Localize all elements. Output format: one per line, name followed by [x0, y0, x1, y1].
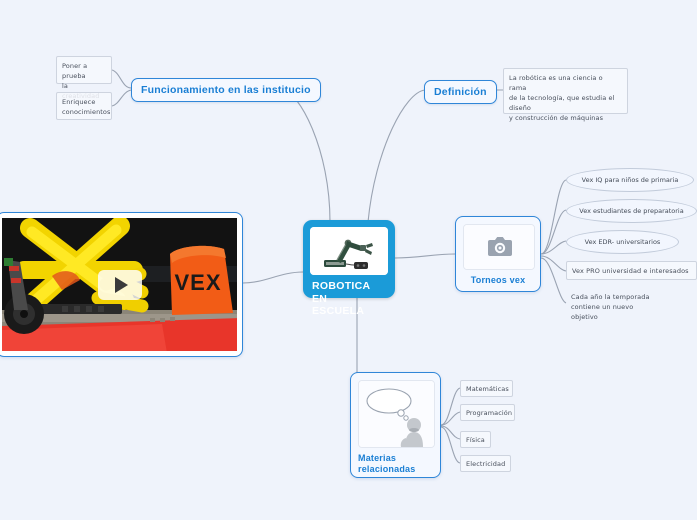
note-line1: Vex PRO universidad e interesados [572, 266, 691, 276]
play-button[interactable] [98, 270, 142, 300]
note-line2: conocimientos [62, 107, 106, 117]
note-fisica[interactable]: Física [460, 431, 491, 448]
camera-placeholder-icon [464, 225, 535, 269]
oval-vex-edr-universitarios[interactable]: Vex EDR- universitarios [566, 230, 679, 254]
note-matematicas[interactable]: Matemáticas [460, 380, 513, 397]
oval-vex-iq-primaria[interactable]: Vex IQ para niños de primaria [566, 168, 694, 192]
note-enriquece-conocimientos[interactable]: Enriquece conocimientos [56, 92, 112, 120]
video-thumbnail[interactable]: VEX [2, 218, 237, 351]
materias-relacionadas-label: Materias relacionadas [358, 448, 433, 475]
thinking-person-illustration [359, 381, 435, 447]
central-title-line1: ROBOTICA EN [312, 280, 386, 305]
note-line1: La robótica es una ciencia o rama [509, 73, 622, 93]
note-line1: Enriquece [62, 97, 106, 107]
central-node-robotica-en-escuela[interactable]: ROBOTICA EN ESCUELA [303, 220, 395, 298]
mindmap-canvas[interactable]: ROBOTICA EN ESCUELA Funcionamiento en la… [0, 0, 697, 520]
note-line1: Física [466, 435, 485, 445]
note-line1: Electricidad [466, 459, 505, 469]
materias-label-line1: Materias [358, 453, 433, 464]
torneos-image-placeholder [463, 224, 535, 270]
note-definicion-robotica[interactable]: La robótica es una ciencia o rama de la … [503, 68, 628, 114]
note-line1: Programación [466, 408, 509, 418]
node-torneos-vex[interactable]: Torneos vex [455, 216, 541, 292]
materias-label-line2: relacionadas [358, 464, 433, 475]
central-node-title: ROBOTICA EN ESCUELA [310, 275, 388, 318]
note-line1: Poner a prueba [62, 61, 106, 81]
node-video-vex-competition[interactable]: VEX [0, 212, 243, 357]
note-poner-a-prueba-la-creatividad[interactable]: Poner a prueba la creatividad [56, 56, 112, 84]
svg-text:VEX: VEX [174, 270, 221, 295]
robot-arm-illustration [310, 227, 388, 275]
materias-image [358, 380, 435, 448]
robot-arm-photo [310, 227, 388, 275]
note-vex-pro-universidad[interactable]: Vex PRO universidad e interesados [566, 261, 697, 280]
torneos-vex-label: Torneos vex [463, 270, 533, 286]
node-materias-relacionadas[interactable]: Materias relacionadas [350, 372, 441, 478]
note-line1: Cada año la temporada [571, 292, 666, 302]
node-funcionamiento-en-las-instituciones[interactable]: Funcionamiento en las institucio [131, 78, 321, 102]
play-triangle-icon [115, 277, 128, 293]
note-line3: objetivo [571, 312, 666, 322]
oval-vex-preparatoria[interactable]: Vex estudiantes de preparatoria [566, 199, 697, 223]
node-definicion[interactable]: Definición [424, 80, 497, 104]
note-line2: contiene un nuevo [571, 302, 666, 312]
note-cada-ano-temporada[interactable]: Cada año la temporada contiene un nuevo … [566, 288, 671, 330]
note-electricidad[interactable]: Electricidad [460, 455, 511, 472]
central-title-line2: ESCUELA [312, 305, 386, 318]
note-line1: Matemáticas [466, 384, 507, 394]
note-line3: y construcción de máquinas [509, 113, 622, 123]
note-programacion[interactable]: Programación [460, 404, 515, 421]
note-line2: de la tecnología, que estudia el diseño [509, 93, 622, 113]
